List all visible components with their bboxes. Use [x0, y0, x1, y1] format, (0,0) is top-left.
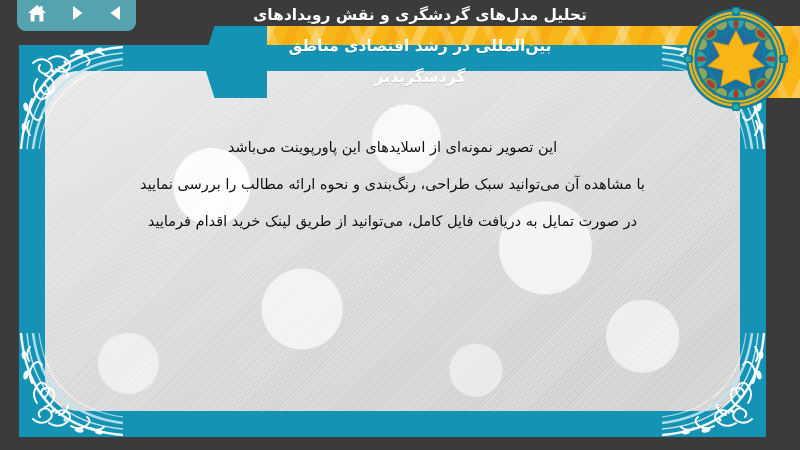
next-slide-button[interactable]	[62, 0, 92, 26]
navigation-bar	[17, 0, 136, 31]
slide-canvas: تحلیل مدل‌های گردشگری و نقش رویدادهای بی…	[0, 0, 800, 450]
triangle-right-icon	[68, 4, 86, 22]
previous-slide-button[interactable]	[101, 0, 131, 26]
home-icon	[27, 4, 47, 23]
content-panel	[45, 71, 740, 411]
content-card	[19, 45, 766, 437]
banner-arrow-notch	[203, 26, 267, 98]
persian-medallion-icon	[684, 7, 788, 111]
triangle-left-icon	[107, 4, 125, 22]
home-button[interactable]	[22, 0, 52, 26]
